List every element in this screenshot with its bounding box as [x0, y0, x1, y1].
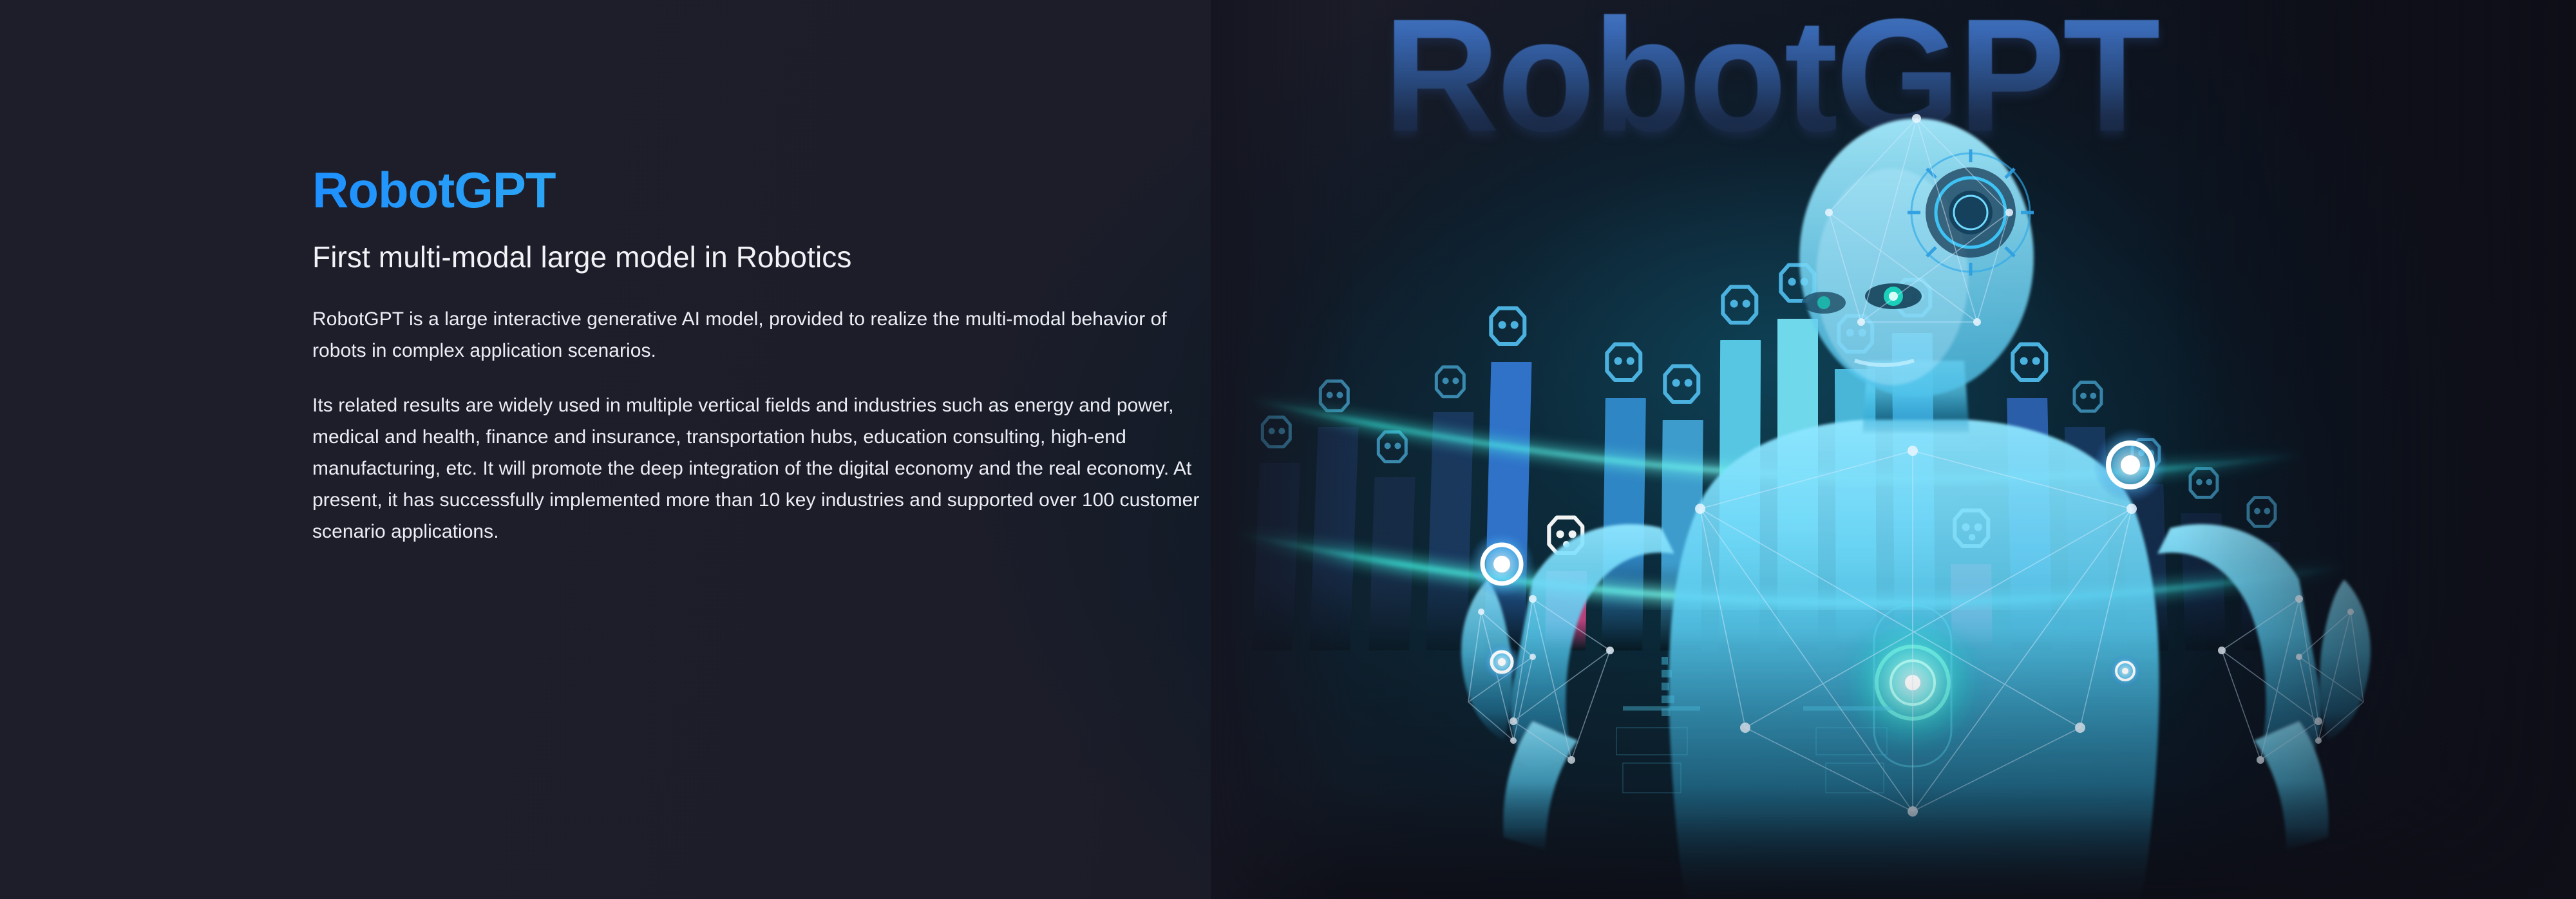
fingertip-glow-ring-right: [2093, 428, 2168, 502]
description-paragraph-1: RobotGPT is a large interactive generati…: [312, 304, 1211, 367]
fingertip-glow-ring-left: [1468, 531, 1535, 598]
base-glow-dot-left: [1482, 643, 1521, 681]
page-subtitle: First multi-modal large model in Robotic…: [312, 239, 1214, 276]
robot-figure: [1211, 0, 2576, 899]
base-glow-dot-right: [2108, 654, 2142, 688]
intro-text-column: RobotGPT First multi-modal large model i…: [312, 164, 1214, 548]
page-title: RobotGPT: [312, 164, 1214, 217]
robotgpt-hero-page: RobotGPT First multi-modal large model i…: [0, 0, 2576, 899]
description-paragraph-2: Its related results are widely used in m…: [312, 390, 1211, 547]
hero-illustration: RobotGPT RobotGPT: [1211, 0, 2576, 899]
